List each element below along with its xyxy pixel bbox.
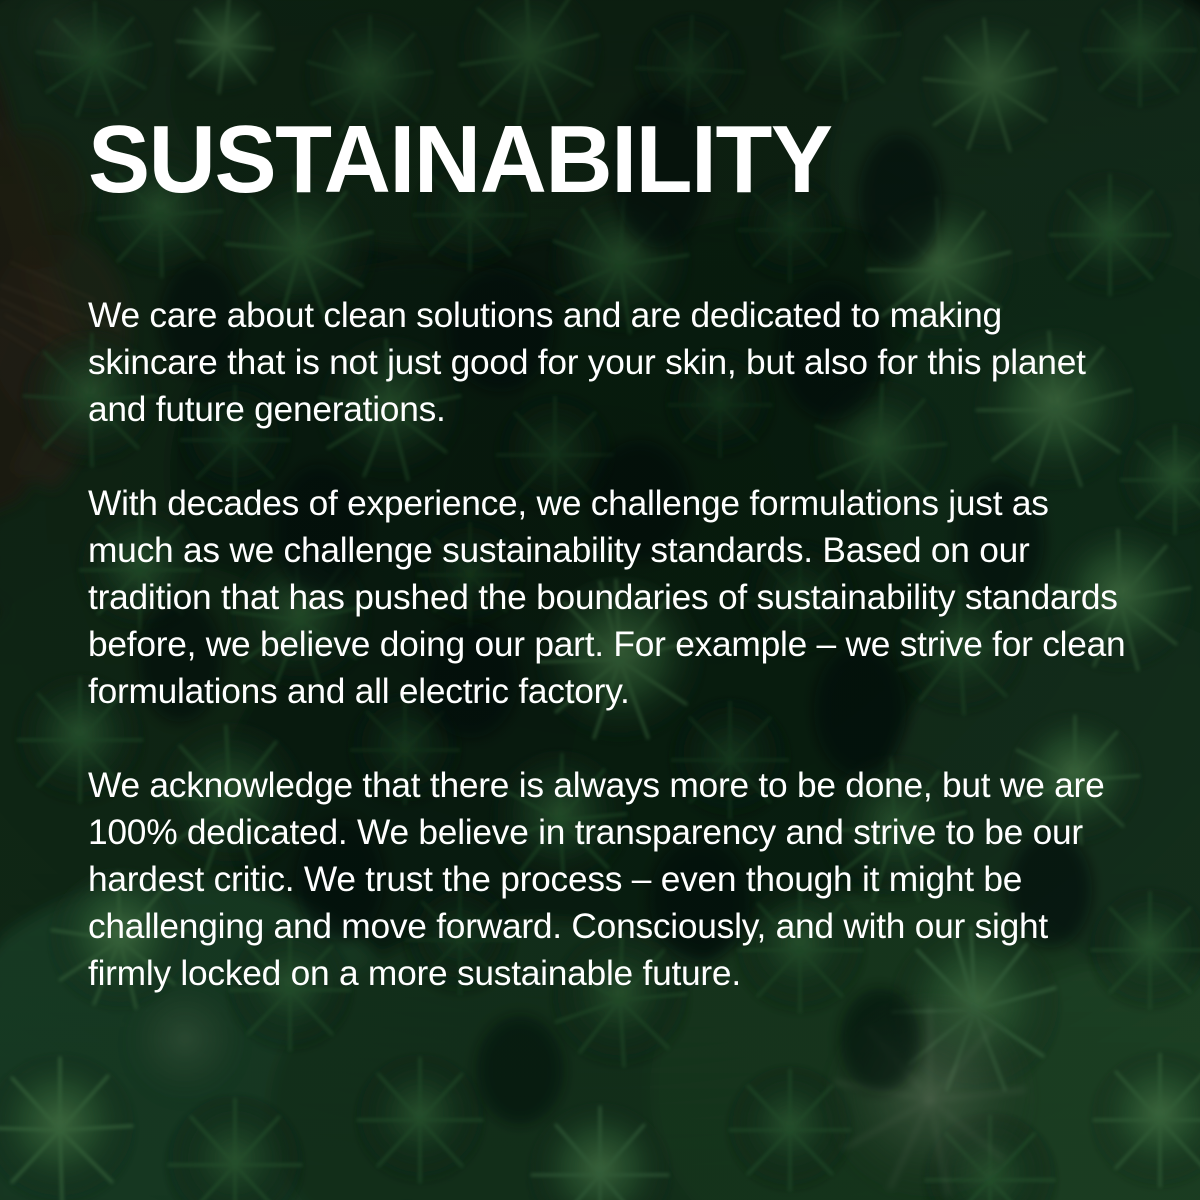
- sustainability-poster: SUSTAINABILITY We care about clean solut…: [0, 0, 1200, 1200]
- paragraph-1: We care about clean solutions and are de…: [88, 292, 1131, 433]
- page-title: SUSTAINABILITY: [88, 112, 832, 208]
- paragraph-3: We acknowledge that there is always more…: [88, 762, 1131, 997]
- body-copy: We care about clean solutions and are de…: [88, 292, 1136, 997]
- paragraph-2: With decades of experience, we challenge…: [88, 480, 1131, 715]
- poster-content: SUSTAINABILITY We care about clean solut…: [88, 0, 1148, 1200]
